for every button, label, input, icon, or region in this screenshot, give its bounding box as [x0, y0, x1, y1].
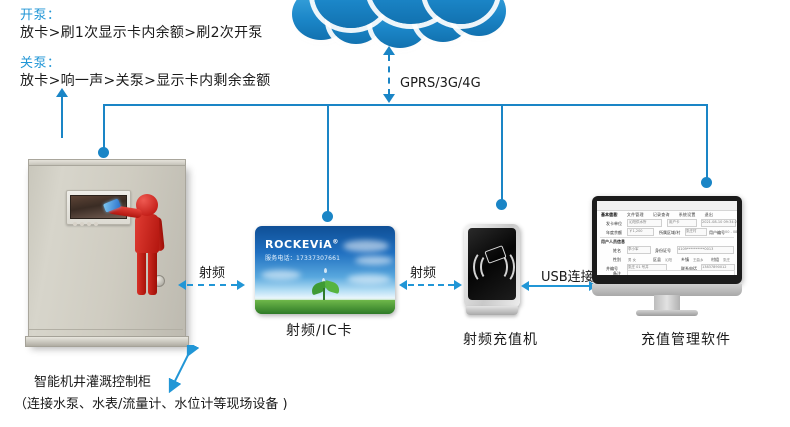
- software-field-value-3: ￥1,200: [629, 228, 643, 234]
- software-menu-item-1[interactable]: 文件管理: [627, 210, 644, 219]
- rf-link-left-label: 射频: [199, 262, 225, 281]
- software-section-user: 用户人员信息: [601, 239, 625, 245]
- cabinet-caption-main: 智能机井灌溉控制柜: [34, 371, 151, 390]
- software-field-label-3: 年度余额: [606, 230, 622, 236]
- software-field-label-9: 区县: [653, 257, 661, 263]
- rf-right-arrowhead-left: [399, 280, 407, 290]
- instruction-pointer-arrowhead: [56, 88, 68, 97]
- card-sprout-leaf-right: [323, 280, 341, 294]
- figure-right-leg: [148, 250, 157, 295]
- card-service-phone: 服务电话：17337307661: [265, 253, 340, 262]
- pump-on-heading: 开泵：: [20, 4, 61, 23]
- uplink-dashed-line: [388, 55, 390, 95]
- software-field-label-8: 性别: [613, 257, 621, 263]
- rf-reader-label: 射频充值机: [463, 329, 538, 349]
- rf-left-dashed-line: [187, 284, 237, 286]
- software-menubar[interactable]: 卡片管理 文件管理 记录查询 系统设置 退出: [597, 201, 737, 211]
- card-grass: [255, 300, 395, 314]
- software-field-label-4: 所属区域/村: [659, 230, 680, 236]
- instruction-pointer-line: [61, 96, 63, 138]
- software-field-label-6: 姓名: [613, 248, 621, 254]
- cabinet-caption-arrow: [160, 345, 200, 393]
- uplink-arrowhead-down: [383, 94, 395, 103]
- software-field-label-5: 用户编号: [709, 230, 725, 236]
- software-field-label-10: 乡镇: [681, 257, 689, 263]
- software-field-value-6: 李小军: [628, 246, 639, 252]
- rf-right-arrowhead-right: [454, 280, 462, 290]
- rf-recharge-reader: [464, 224, 520, 316]
- reader-glass-panel: [468, 228, 516, 300]
- software-field-value-5: 00 - 08: [725, 229, 737, 235]
- card-brand-label: ROCKEViA®: [265, 238, 339, 251]
- software-menu-item-3[interactable]: 系统设置: [679, 210, 696, 219]
- software-field-value-11: 张庄: [723, 257, 730, 263]
- software-field-label-0: 发卡单位: [606, 221, 622, 227]
- software-field-label-11: 村组: [711, 257, 719, 263]
- pump-off-heading: 关泵：: [20, 52, 61, 71]
- bus-horizontal-line: [103, 104, 707, 106]
- bus-drop-software: [706, 104, 708, 182]
- reader-stand: [466, 306, 518, 315]
- monitor-foot: [636, 310, 698, 316]
- rf-left-arrowhead-left: [178, 280, 186, 290]
- pump-off-steps: 放卡>响一声>关泵>显示卡内剩余金额: [20, 70, 271, 90]
- usb-solid-line: [529, 285, 589, 287]
- recharge-software-monitor: 卡片管理 文件管理 记录查询 系统设置 退出 基本信息 发卡单位 沁阳供水所 用…: [592, 196, 742, 316]
- pump-on-steps: 放卡>刷1次显示卡内余额>刷2次开泵: [20, 22, 263, 42]
- uplink-label: GPRS/3G/4G: [400, 76, 481, 91]
- bus-drop-reader: [501, 104, 503, 204]
- figure-left-leg: [137, 250, 146, 295]
- software-field-label-14: 备注: [613, 271, 621, 275]
- uplink-arrowhead-up: [383, 46, 395, 55]
- card-brand-text: ROCKEViA: [265, 238, 332, 251]
- software-field-value-10: 王曲乡: [693, 257, 704, 263]
- diagram-canvas: 开泵： 放卡>刷1次显示卡内余额>刷2次开泵 关泵： 放卡>响一声>关泵>显示卡…: [0, 0, 790, 427]
- figure-torso: [135, 214, 159, 253]
- software-field-value-1: 用户卡: [669, 219, 680, 225]
- software-field-value-7: 4109**********0013: [678, 246, 713, 252]
- bus-drop-card: [327, 104, 329, 216]
- irrigation-control-cabinet: [24, 157, 192, 354]
- rf-link-right-label: 射频: [410, 262, 436, 281]
- bus-node-software: [701, 177, 712, 188]
- monitor-screen: 卡片管理 文件管理 记录查询 系统设置 退出 基本信息 发卡单位 沁阳供水所 用…: [597, 201, 737, 275]
- cloud-server: 云端服务器: [286, 0, 512, 48]
- software-menu-item-2[interactable]: 记录查询: [653, 210, 670, 219]
- rf-ic-card: ROCKEViA® 服务电话：17337307661: [255, 226, 395, 314]
- cabinet-caption-sub: （连接水泵、水表/流量计、水位计等现场设备 ): [14, 393, 288, 412]
- software-field-value-9: 沁阳: [665, 257, 672, 263]
- software-notes-textarea[interactable]: [627, 270, 735, 275]
- bus-node-card: [322, 211, 333, 222]
- cabinet-seam: [29, 329, 183, 330]
- cloud-shape: [286, 0, 512, 48]
- software-field-value-8: 男 女: [628, 257, 636, 263]
- bus-node-reader: [496, 199, 507, 210]
- software-field-value-0: 沁阳供水所: [629, 219, 647, 225]
- recharge-software-label: 充值管理软件: [641, 329, 731, 349]
- cabinet-keypad: [73, 211, 103, 215]
- card-brand-mark: ®: [332, 238, 339, 245]
- software-section-basic: 基本信息: [601, 212, 617, 218]
- rf-right-dashed-line: [408, 284, 454, 286]
- software-menu-item-4[interactable]: 退出: [705, 210, 713, 219]
- usb-arrowhead-left: [521, 281, 529, 291]
- rf-left-arrowhead-right: [237, 280, 245, 290]
- rf-ic-card-label: 射频/IC卡: [286, 320, 353, 340]
- software-field-label-7: 身份证号: [655, 248, 671, 254]
- software-field-value-2: 2021-08-10 09:34:22: [702, 219, 737, 225]
- software-field-value-4: 张庄村: [686, 228, 697, 234]
- bus-drop-cabinet: [103, 104, 105, 152]
